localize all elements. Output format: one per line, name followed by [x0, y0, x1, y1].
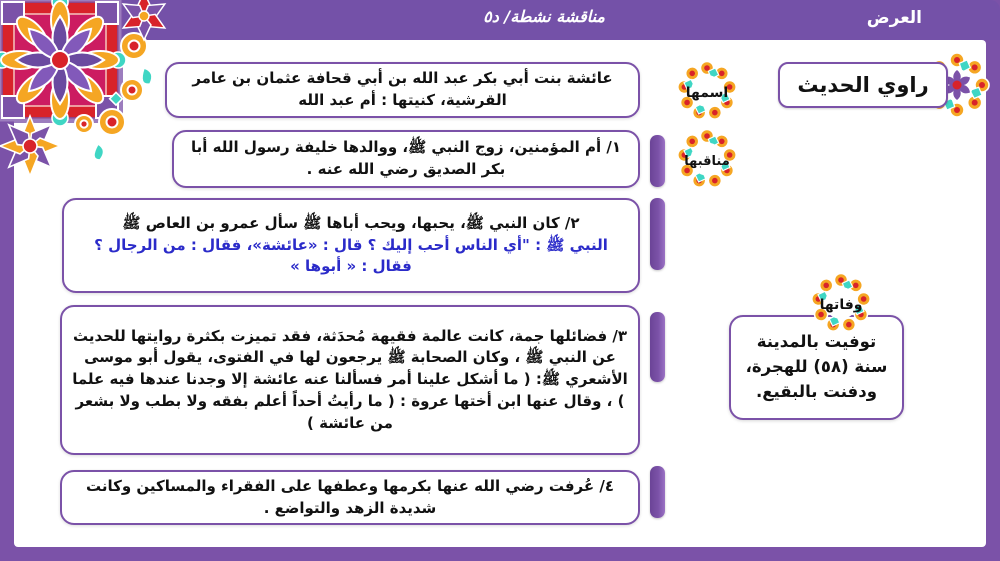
name-content-text: عائشة بنت أبي بكر عبد الله بن أبي قحافة …	[177, 68, 628, 112]
virtue-1-box: ١/ أم المؤمنين، زوج النبي ﷺ، ووالدها خلي…	[172, 130, 640, 188]
connector-bar-2	[650, 198, 665, 270]
connector-bar-1	[650, 135, 665, 187]
death-info-text: توفيت بالمدينة سنة (٥٨) للهجرة، ودفنت با…	[739, 330, 894, 404]
mandala-circle-badge-virtues: مناقبها	[676, 128, 738, 190]
virtue-2-text-black: ٢/ كان النبي ﷺ، يحبها، ويحب أباها ﷺ سأل …	[74, 213, 628, 235]
virtue-3-box: ٣/ فضائلها جمة، كانت عالمة فقيهة مُحدَثة…	[60, 305, 640, 455]
activity-subtitle: مناقشة نشطة/ د٥	[483, 7, 605, 26]
mandala-circle-badge-name: اسمها	[676, 60, 738, 122]
virtue-4-box: ٤/ عُرفت رضي الله عنها بكرمها وعطفها على…	[60, 470, 640, 525]
connector-bar-3	[650, 312, 665, 382]
narrator-title-label: راوي الحديث	[797, 73, 928, 97]
slide-header-bar: العرض مناقشة نشطة/ د٥	[0, 0, 1000, 40]
name-badge-label: اسمها	[686, 85, 728, 101]
virtue-2-text-blue: النبي ﷺ : "أي الناس أحب إليك ؟ قال : «عا…	[74, 235, 628, 279]
virtues-badge-label: مناقبها	[684, 154, 730, 169]
virtue-3-text: ٣/ فضائلها جمة، كانت عالمة فقيهة مُحدَثة…	[72, 326, 628, 435]
mandala-circle-badge-death: وفاتها	[810, 272, 872, 334]
slide-canvas: العرض مناقشة نشطة/ د٥	[0, 0, 1000, 561]
virtue-4-text: ٤/ عُرفت رضي الله عنها بكرمها وعطفها على…	[72, 476, 628, 520]
virtue-2-box: ٢/ كان النبي ﷺ، يحبها، ويحب أباها ﷺ سأل …	[62, 198, 640, 293]
narrator-title-box: راوي الحديث	[778, 62, 948, 108]
death-badge-label: وفاتها	[820, 297, 863, 313]
page-title: العرض	[867, 8, 922, 28]
connector-bar-4	[650, 466, 665, 518]
virtue-1-text: ١/ أم المؤمنين، زوج النبي ﷺ، ووالدها خلي…	[184, 137, 628, 181]
name-content-box: عائشة بنت أبي بكر عبد الله بن أبي قحافة …	[165, 62, 640, 118]
